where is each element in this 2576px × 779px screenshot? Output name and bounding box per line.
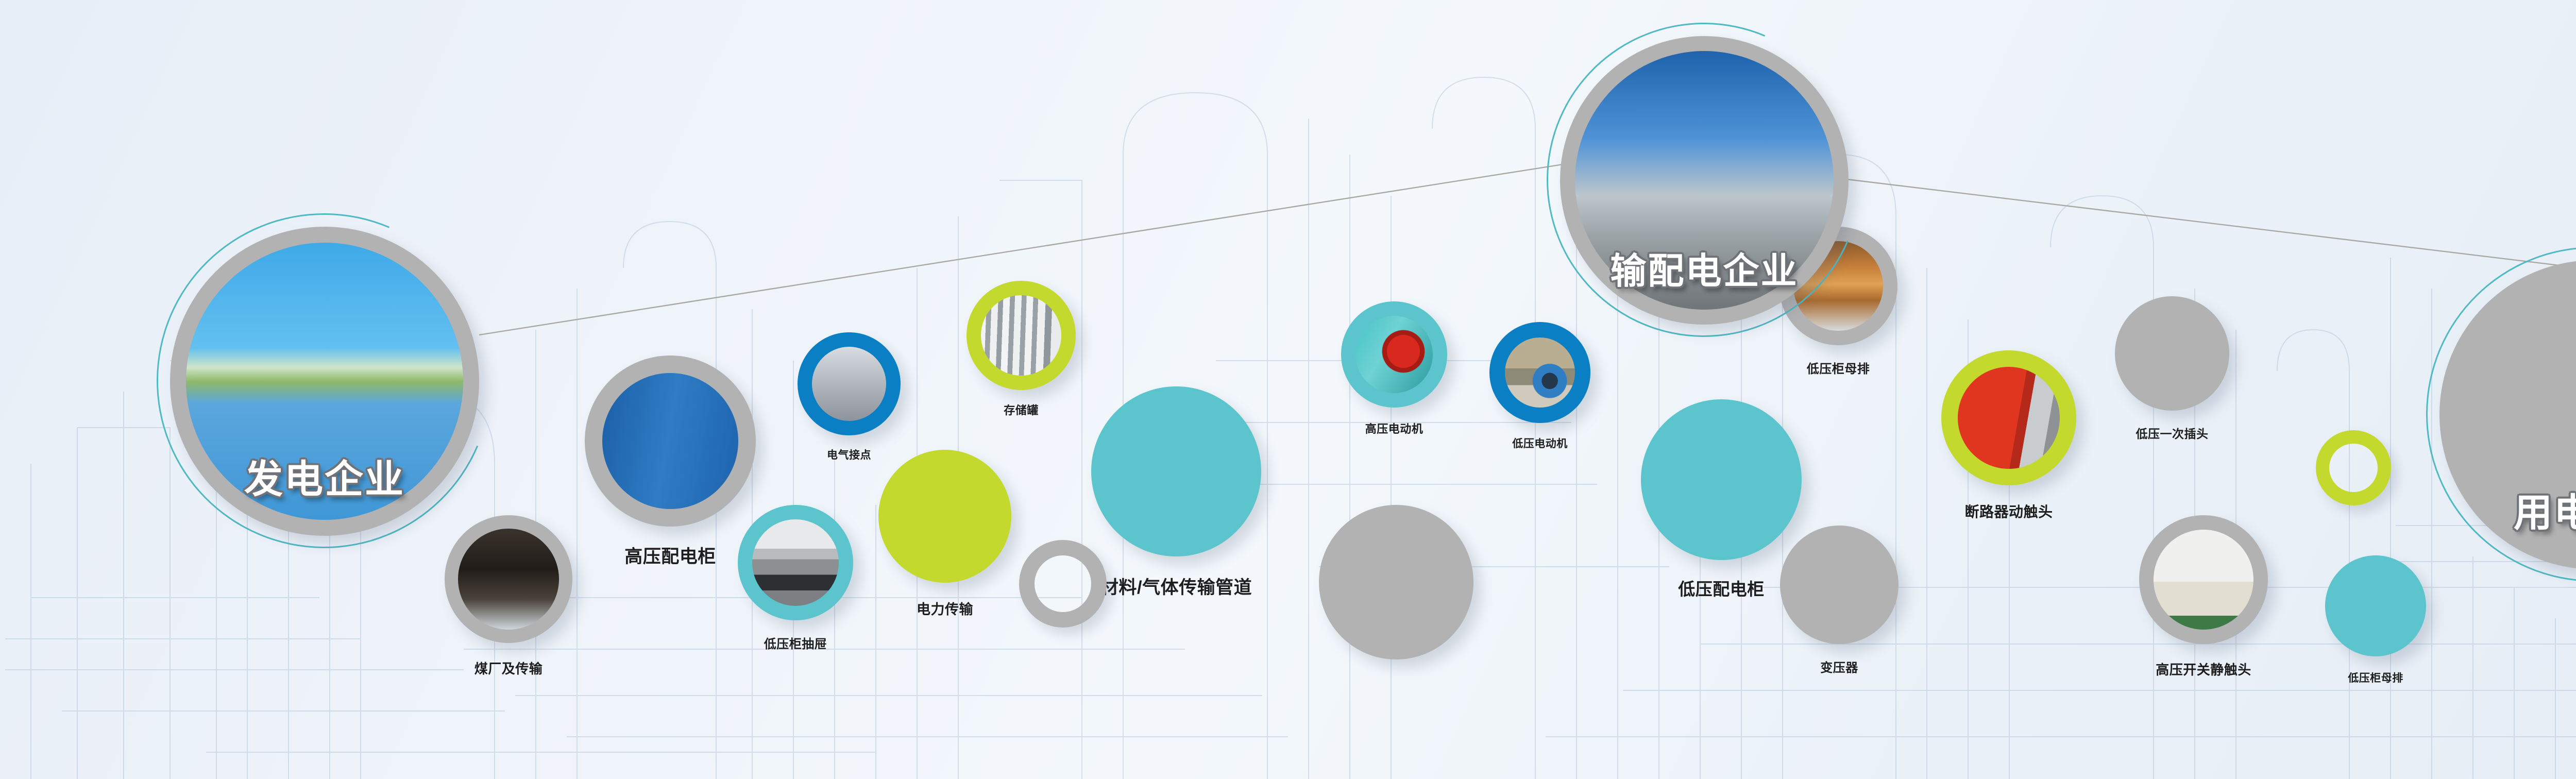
- node-ring-hv-switch-static-contact: [2139, 515, 2268, 644]
- node-caption-breaker-moving-contact: 断路器动触头: [1964, 501, 2053, 521]
- node-ring-material-gas-pipeline: [1091, 386, 1261, 556]
- node-photo-power-transmission: [895, 466, 995, 566]
- node-ring-storage-tank: [967, 281, 1076, 390]
- node-power-transmission[interactable]: 电力传输: [878, 450, 1011, 619]
- node-photo-material-gas-pipeline: [1109, 404, 1244, 539]
- node-caption-power-transmission: 电力传输: [917, 598, 973, 618]
- node-coal-plant-transport[interactable]: 煤厂及传输: [445, 515, 572, 679]
- node-lv-motor[interactable]: 低压电动机: [1489, 322, 1590, 459]
- hero-label-power-generation: 发电企业: [170, 448, 479, 504]
- node-photo-breaker-moving-contact: [1958, 367, 2060, 469]
- node-hv-motor[interactable]: 高压电动机: [1341, 301, 1447, 444]
- node-material-gas-pipeline[interactable]: 材料/气体传输管道: [1091, 386, 1261, 592]
- node-ring-power-transmission: [878, 450, 1011, 583]
- node-photo-transformer: [1794, 540, 1884, 630]
- hero-label-power-consumption: 用电企业: [2439, 481, 2576, 537]
- empty-ring-gray: [1019, 540, 1107, 628]
- node-caption-electrical-contact: 电气接点: [827, 447, 871, 462]
- node-caption-storage-tank: 存储罐: [1004, 401, 1039, 418]
- node-photo-lv-cabinet-busbar-bottom: [2338, 569, 2413, 643]
- node-caption-hv-switch-static-contact: 高压开关静触头: [2156, 659, 2251, 679]
- connector-transmission-to-consumption: [1834, 178, 2576, 270]
- node-hv-distribution-cabinet[interactable]: 高压配电柜: [585, 355, 756, 563]
- node-ring-lv-distribution-cabinet: [1641, 399, 1802, 560]
- node-lv-cabinet-busbar-bottom[interactable]: 低压柜母排: [2325, 555, 2426, 692]
- node-photo-hv-switch-static-contact: [2154, 530, 2253, 630]
- node-photo-coal-plant-transport: [458, 529, 559, 630]
- node-photo-lv-cabinet-drawer: [752, 519, 839, 606]
- hero-power-generation[interactable]: 发电企业: [170, 227, 479, 536]
- node-ring-lv-cabinet-busbar-bottom: [2325, 555, 2426, 656]
- node-caption-lv-cabinet-busbar-top: 低压柜母排: [1807, 359, 1870, 377]
- node-ring-hv-distribution-cabinet: [585, 355, 756, 527]
- node-photo-storage-tank: [981, 295, 1061, 376]
- node-ring-refinery-stack: [1319, 505, 1473, 659]
- node-caption-material-gas-pipeline: 材料/气体传输管道: [1100, 573, 1252, 599]
- node-caption-lv-distribution-cabinet: 低压配电柜: [1678, 575, 1765, 600]
- node-transformer[interactable]: 变压器: [1780, 526, 1899, 680]
- node-ring-electrical-contact: [798, 332, 901, 435]
- node-ring-lv-cabinet-drawer: [738, 505, 853, 620]
- node-ring-transformer: [1780, 526, 1899, 644]
- node-caption-lv-primary-plug: 低压一次插头: [2136, 424, 2209, 442]
- node-photo-lv-motor: [1505, 337, 1575, 408]
- node-caption-lv-cabinet-drawer: 低压柜抽屉: [764, 634, 827, 652]
- node-photo-lv-distribution-cabinet: [1658, 417, 1784, 543]
- node-hv-switch-static-contact[interactable]: 高压开关静触头: [2139, 515, 2268, 680]
- node-photo-lv-primary-plug: [2128, 310, 2216, 397]
- node-caption-lv-cabinet-busbar-bottom: 低压柜母排: [2348, 670, 2403, 685]
- node-ring-lv-motor: [1489, 322, 1590, 423]
- hero-power-consumption[interactable]: 用电企业: [2439, 260, 2576, 569]
- node-ring-breaker-moving-contact: [1941, 350, 2076, 485]
- empty-ring-green: [2316, 430, 2391, 505]
- hero-label-transmission-distribution: 输配电企业: [1560, 242, 1849, 294]
- node-storage-tank[interactable]: 存储罐: [967, 281, 1076, 426]
- node-lv-primary-plug[interactable]: 低压一次插头: [2115, 296, 2229, 447]
- node-breaker-moving-contact[interactable]: 断路器动触头: [1941, 350, 2076, 521]
- node-photo-hv-motor: [1355, 316, 1433, 393]
- node-caption-hv-distribution-cabinet: 高压配电柜: [624, 542, 716, 568]
- node-caption-lv-motor: 低压电动机: [1512, 435, 1568, 451]
- hero-transmission-distribution[interactable]: 输配电企业: [1560, 36, 1849, 325]
- node-ring-hv-motor: [1341, 301, 1447, 408]
- node-photo-refinery-stack: [1335, 521, 1457, 643]
- node-lv-distribution-cabinet[interactable]: 低压配电柜: [1641, 399, 1802, 596]
- node-caption-hv-motor: 高压电动机: [1365, 420, 1423, 436]
- node-caption-transformer: 变压器: [1820, 657, 1858, 675]
- node-refinery-stack[interactable]: [1319, 505, 1473, 696]
- node-caption-coal-plant-transport: 煤厂及传输: [474, 658, 543, 678]
- node-photo-electrical-contact: [812, 347, 886, 421]
- node-photo-hv-distribution-cabinet: [602, 373, 738, 509]
- poster-canvas: 煤厂及传输高压配电柜电气接点存储罐低压柜抽屉电力传输材料/气体传输管道高压电动机…: [0, 0, 2576, 779]
- node-ring-lv-primary-plug: [2115, 296, 2229, 411]
- node-lv-cabinet-drawer[interactable]: 低压柜抽屉: [738, 505, 853, 656]
